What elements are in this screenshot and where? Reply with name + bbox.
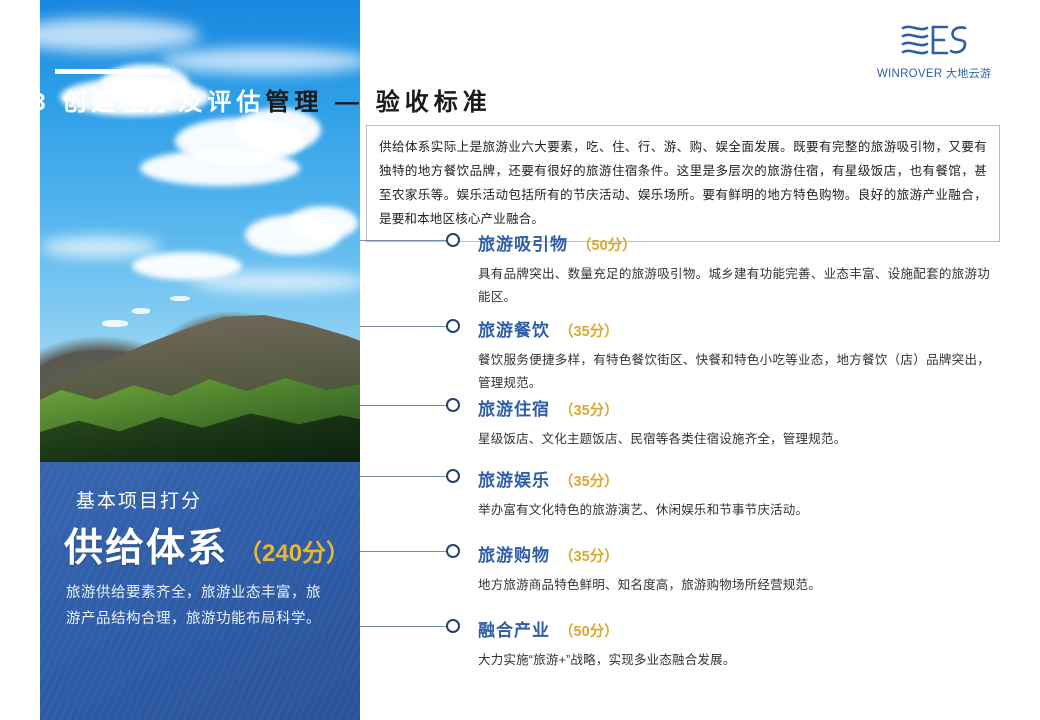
criteria-list: 旅游吸引物 （50分） 具有品牌突出、数量充足的旅游吸引物。城乡建有功能完善、业… [360, 222, 1010, 678]
list-item-title: 旅游餐饮 [478, 316, 550, 341]
list-item-header: 旅游购物 （35分） [478, 533, 1010, 566]
list-item-score: （35分） [559, 470, 619, 491]
bullet-circle-icon [446, 469, 460, 483]
bullet-circle-icon [446, 398, 460, 412]
brand-name-cn: 大地云游 [946, 68, 991, 80]
list-item-title: 旅游购物 [478, 541, 550, 566]
list-item-description: 地方旅游商品特色鲜明、知名度高，旅游购物场所经营规范。 [478, 574, 990, 597]
page-title: 03 创建程序及评估管理 — 验收标准 [14, 82, 492, 117]
title-accent-rule [55, 69, 170, 74]
panel-heading-text: 供给体系 [64, 517, 228, 573]
bullet-circle-icon [446, 233, 460, 247]
list-item[interactable]: 旅游吸引物 （50分） 具有品牌突出、数量充足的旅游吸引物。城乡建有功能完善、业… [360, 222, 1010, 308]
list-item-score: （50分） [577, 234, 637, 255]
connector-line [360, 626, 448, 627]
list-item-description: 具有品牌突出、数量充足的旅游吸引物。城乡建有功能完善、业态丰富、设施配套的旅游功… [478, 263, 990, 309]
connector-line [360, 476, 448, 477]
page-title-suffix: 管理 — 验收标准 [265, 89, 491, 116]
connector-line [360, 326, 448, 327]
list-item-score: （35分） [559, 399, 619, 420]
connector-line [360, 240, 448, 241]
list-item[interactable]: 融合产业 （50分） 大力实施“旅游+”战略，实现多业态融合发展。 [360, 608, 1010, 678]
list-item-score: （35分） [559, 320, 619, 341]
list-item[interactable]: 旅游餐饮 （35分） 餐饮服务便捷多样，有特色餐饮街区、快餐和特色小吃等业态，地… [360, 308, 1010, 387]
bullet-circle-icon [446, 544, 460, 558]
connector-line [360, 551, 448, 552]
list-item-title: 旅游娱乐 [478, 466, 550, 491]
snow-patch [132, 308, 150, 314]
list-item-header: 旅游娱乐 （35分） [478, 458, 1010, 491]
brand-logo-text: WINROVER 大地云游 [874, 65, 994, 81]
page-title-number: 03 [14, 89, 51, 116]
list-item-score: （35分） [559, 545, 619, 566]
snow-patch [102, 320, 128, 327]
panel-heading: 供给体系 （240分） [64, 517, 350, 573]
list-item-header: 融合产业 （50分） [478, 608, 1010, 641]
list-item-title: 融合产业 [478, 616, 550, 641]
panel-subtitle: 基本项目打分 [76, 486, 202, 513]
list-item-header: 旅游餐饮 （35分） [478, 308, 1010, 341]
panel-score-badge: （240分） [238, 533, 350, 568]
cloud-puff [288, 206, 358, 240]
bullet-circle-icon [446, 619, 460, 633]
brand-name-en: WINROVER [877, 68, 943, 80]
list-item-description: 大力实施“旅游+”战略，实现多业态融合发展。 [478, 649, 990, 672]
supply-system-panel: 基本项目打分 供给体系 （240分） 旅游供给要素齐全，旅游业态丰富，旅游产品结… [40, 462, 360, 720]
list-item[interactable]: 旅游购物 （35分） 地方旅游商品特色鲜明、知名度高，旅游购物场所经营规范。 [360, 533, 1010, 608]
list-item-title: 旅游吸引物 [478, 230, 568, 255]
winrover-flag-icon [897, 20, 971, 62]
page-title-main: 创建程序及评估 [62, 89, 265, 116]
list-item[interactable]: 旅游娱乐 （35分） 举办富有文化特色的旅游演艺、休闲娱乐和节事节庆活动。 [360, 458, 1010, 533]
list-item-description: 举办富有文化特色的旅游演艺、休闲娱乐和节事节庆活动。 [478, 499, 990, 522]
brand-logo: WINROVER 大地云游 [874, 20, 994, 81]
list-item-header: 旅游住宿 （35分） [478, 387, 1010, 420]
snow-patch [170, 296, 190, 301]
list-item-description: 星级饭店、文化主题饭店、民宿等各类住宿设施齐全，管理规范。 [478, 428, 990, 451]
connector-line [360, 405, 448, 406]
list-item-header: 旅游吸引物 （50分） [478, 222, 1010, 255]
list-item-title: 旅游住宿 [478, 395, 550, 420]
cloud-wisp [160, 48, 360, 74]
list-item[interactable]: 旅游住宿 （35分） 星级饭店、文化主题饭店、民宿等各类住宿设施齐全，管理规范。 [360, 387, 1010, 458]
cloud-puff [140, 150, 300, 186]
bullet-circle-icon [446, 319, 460, 333]
list-item-score: （50分） [559, 620, 619, 641]
panel-description: 旅游供给要素齐全，旅游业态丰富，旅游产品结构合理，旅游功能布局科学。 [66, 580, 334, 632]
intro-paragraph: 供给体系实际上是旅游业六大要素，吃、住、行、游、购、娱全面发展。既要有完整的旅游… [379, 135, 987, 231]
